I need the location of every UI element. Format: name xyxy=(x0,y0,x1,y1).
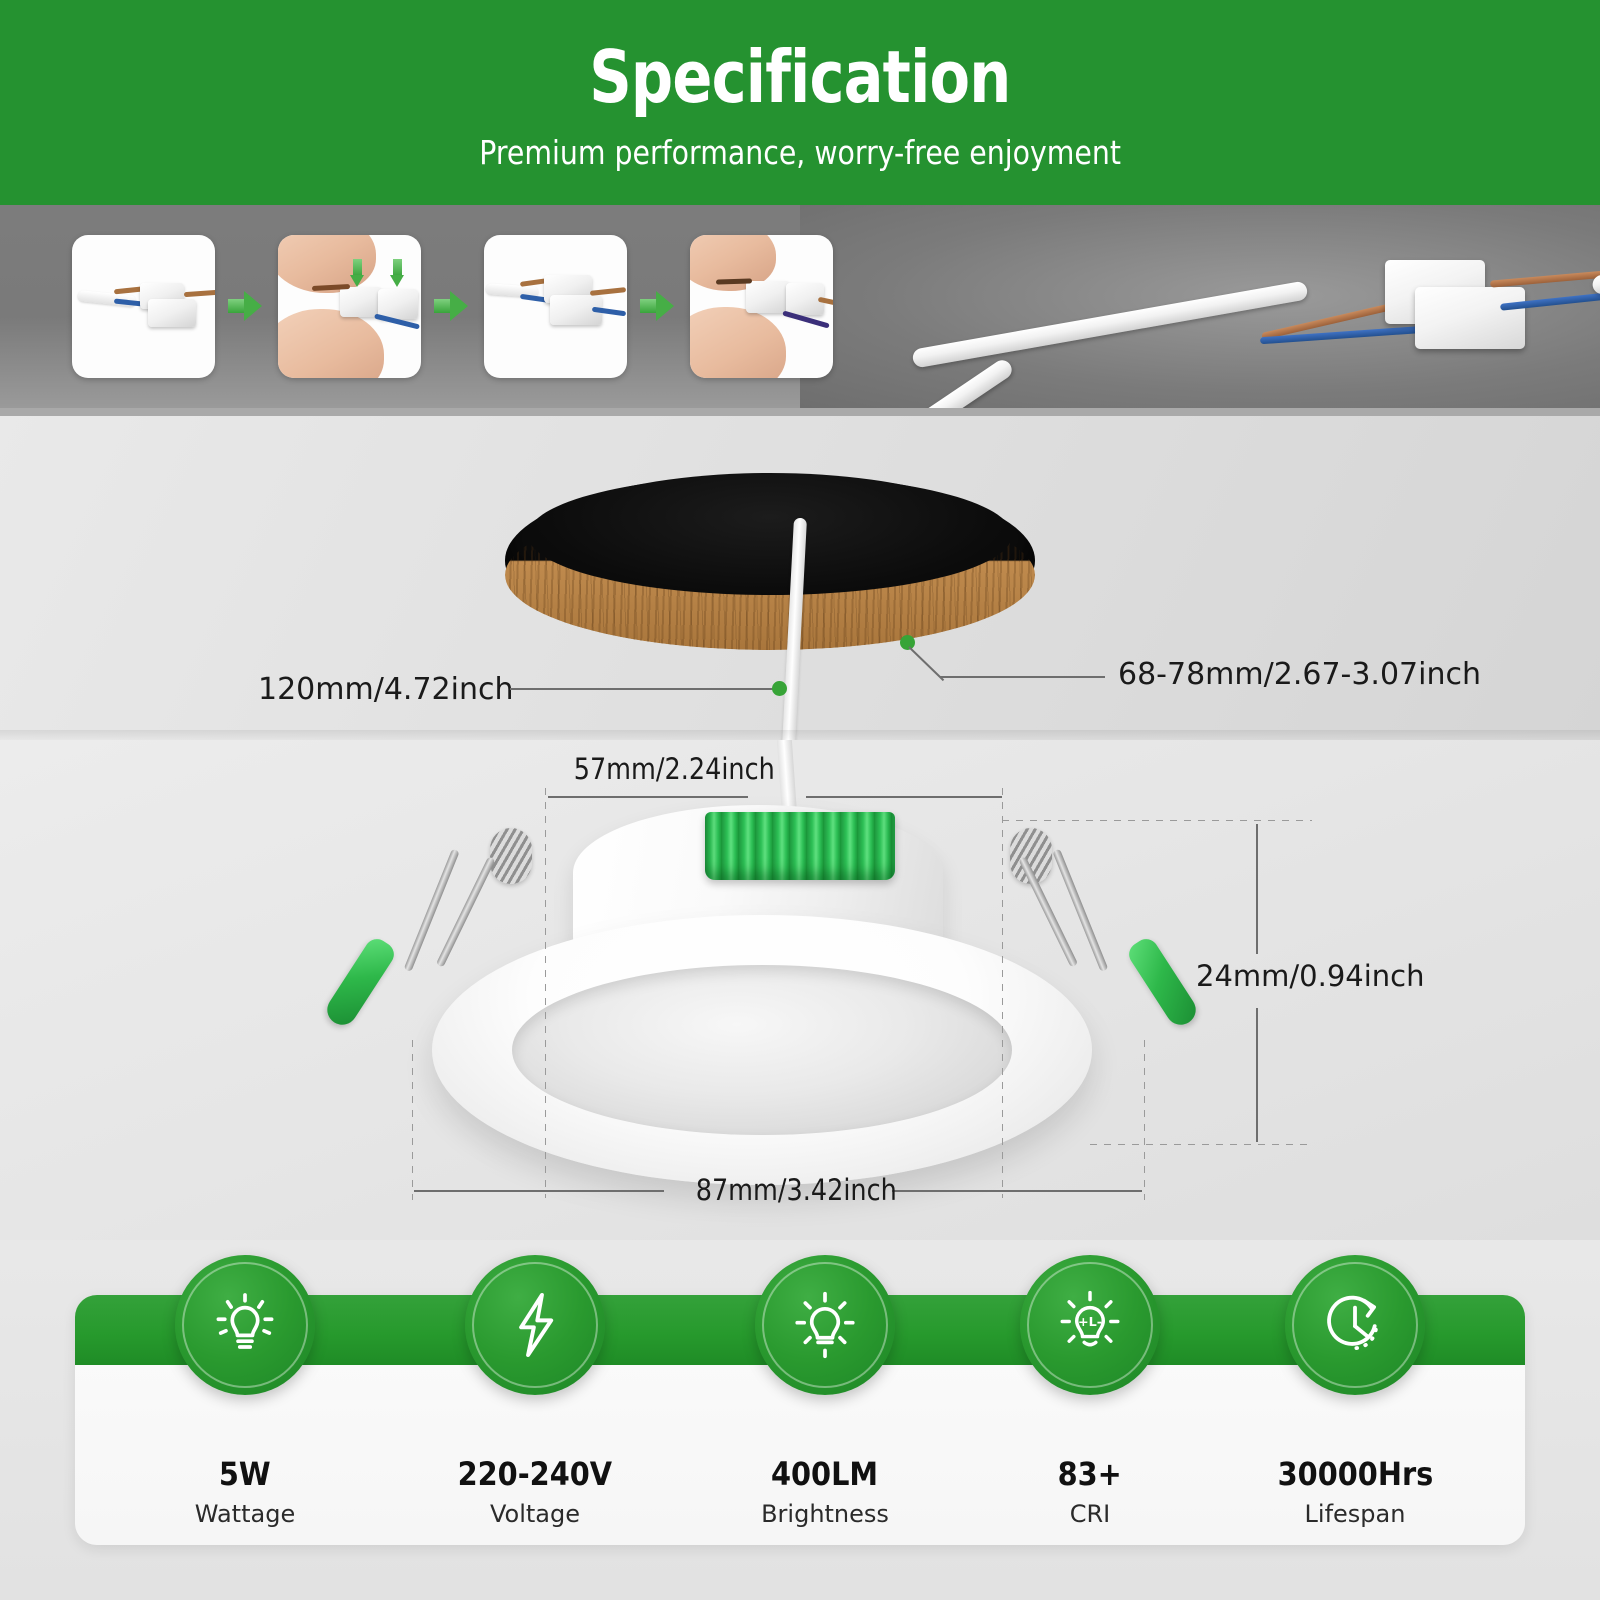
spec-value: 30000Hrs xyxy=(1210,1455,1500,1493)
product-top-width-line-left xyxy=(548,796,748,798)
product-illustration: 57mm/2.24inch 24mm/0.94inch 87mm/3.42inc… xyxy=(0,740,1600,1240)
spring-clip-left-tip xyxy=(322,934,399,1030)
arrow-right-icon xyxy=(640,291,674,321)
spec-section: 5W Wattage 220-240V Voltage xyxy=(0,1240,1600,1600)
ceiling-illustration: 120mm/4.72inch 68-78mm/2.67-3.07inch xyxy=(0,408,1600,740)
spec-value: 220-240V xyxy=(390,1455,680,1493)
outer-guide-right xyxy=(1144,1040,1145,1200)
clock-icon xyxy=(1285,1255,1425,1395)
spring-clip-left-arm xyxy=(404,849,460,973)
product-height-line-lower xyxy=(1256,1008,1258,1142)
arrow-right-icon xyxy=(434,291,468,321)
step-thumbnail-2 xyxy=(278,235,421,378)
page-subtitle: Premium performance, worry-free enjoymen… xyxy=(479,133,1121,172)
spec-value: 400LM xyxy=(680,1455,970,1493)
spec-label: Brightness xyxy=(680,1500,970,1528)
spec-item-brightness[interactable]: 400LM Brightness xyxy=(680,1295,970,1545)
step-thumbnail-3 xyxy=(484,235,627,378)
spring-clip-left-coil xyxy=(490,828,532,884)
page-header: Specification Premium performance, worry… xyxy=(0,0,1600,205)
ceiling-spacing-leader-line xyxy=(510,688,778,690)
spring-clip-right-tip xyxy=(1125,934,1202,1030)
lamp-heatsink-fins xyxy=(705,812,895,880)
install-steps-strip xyxy=(0,205,1600,408)
step-thumbnail-1 xyxy=(72,235,215,378)
spec-value: 83+ xyxy=(945,1455,1235,1493)
spec-label: CRI xyxy=(945,1500,1235,1528)
product-height-label: 24mm/0.94inch xyxy=(1196,959,1425,993)
ceiling-cutout-leader-diagonal xyxy=(908,646,944,681)
spec-card: 5W Wattage 220-240V Voltage xyxy=(75,1295,1525,1545)
lightning-icon xyxy=(465,1255,605,1395)
ceiling-cutout-label: 68-78mm/2.67-3.07inch xyxy=(1118,657,1481,692)
arrow-right-icon xyxy=(228,291,262,321)
dimension-guide-right xyxy=(1002,788,1003,1198)
ceiling-spacing-label: 120mm/4.72inch xyxy=(258,672,513,707)
ceiling-cutout-leader-line xyxy=(940,676,1105,678)
outer-guide-left xyxy=(412,1040,413,1200)
spring-clip-right-arm xyxy=(1052,849,1108,973)
sun-icon xyxy=(755,1255,895,1395)
spec-item-wattage[interactable]: 5W Wattage xyxy=(100,1295,390,1545)
step-thumbnail-4 xyxy=(690,235,833,378)
product-top-width-line-right xyxy=(806,796,1002,798)
height-guide-top xyxy=(1002,820,1312,821)
press-down-arrow-icon xyxy=(350,259,365,287)
spec-label: Voltage xyxy=(390,1500,680,1528)
dimension-guide-left xyxy=(545,788,546,1198)
cri-bulb-icon: +L- xyxy=(1020,1255,1160,1395)
height-guide-bottom xyxy=(1090,1144,1312,1145)
ceiling-spacing-marker-dot xyxy=(772,681,787,696)
product-outer-width-line-left xyxy=(414,1190,664,1192)
spec-item-voltage[interactable]: 220-240V Voltage xyxy=(390,1295,680,1545)
ceiling-cutout-void xyxy=(528,475,1012,595)
svg-text:+L-: +L- xyxy=(1078,1314,1102,1329)
spec-item-lifespan[interactable]: 30000Hrs Lifespan xyxy=(1210,1295,1500,1545)
lamp-diffuser-lens xyxy=(512,965,1012,1135)
wire-connector-photo xyxy=(800,205,1600,408)
spec-label: Lifespan xyxy=(1210,1500,1500,1528)
product-outer-width-line-right xyxy=(892,1190,1142,1192)
product-height-line-upper xyxy=(1256,824,1258,954)
product-outer-width-label: 87mm/3.42inch xyxy=(696,1173,897,1207)
product-top-width-label: 57mm/2.24inch xyxy=(574,752,775,786)
lightbulb-icon xyxy=(175,1255,315,1395)
spec-item-cri[interactable]: +L- 83+ CRI xyxy=(945,1295,1235,1545)
spec-value: 5W xyxy=(100,1455,390,1493)
press-down-arrow-icon xyxy=(390,259,405,287)
spec-label: Wattage xyxy=(100,1500,390,1528)
page-title: Specification xyxy=(589,41,1010,113)
